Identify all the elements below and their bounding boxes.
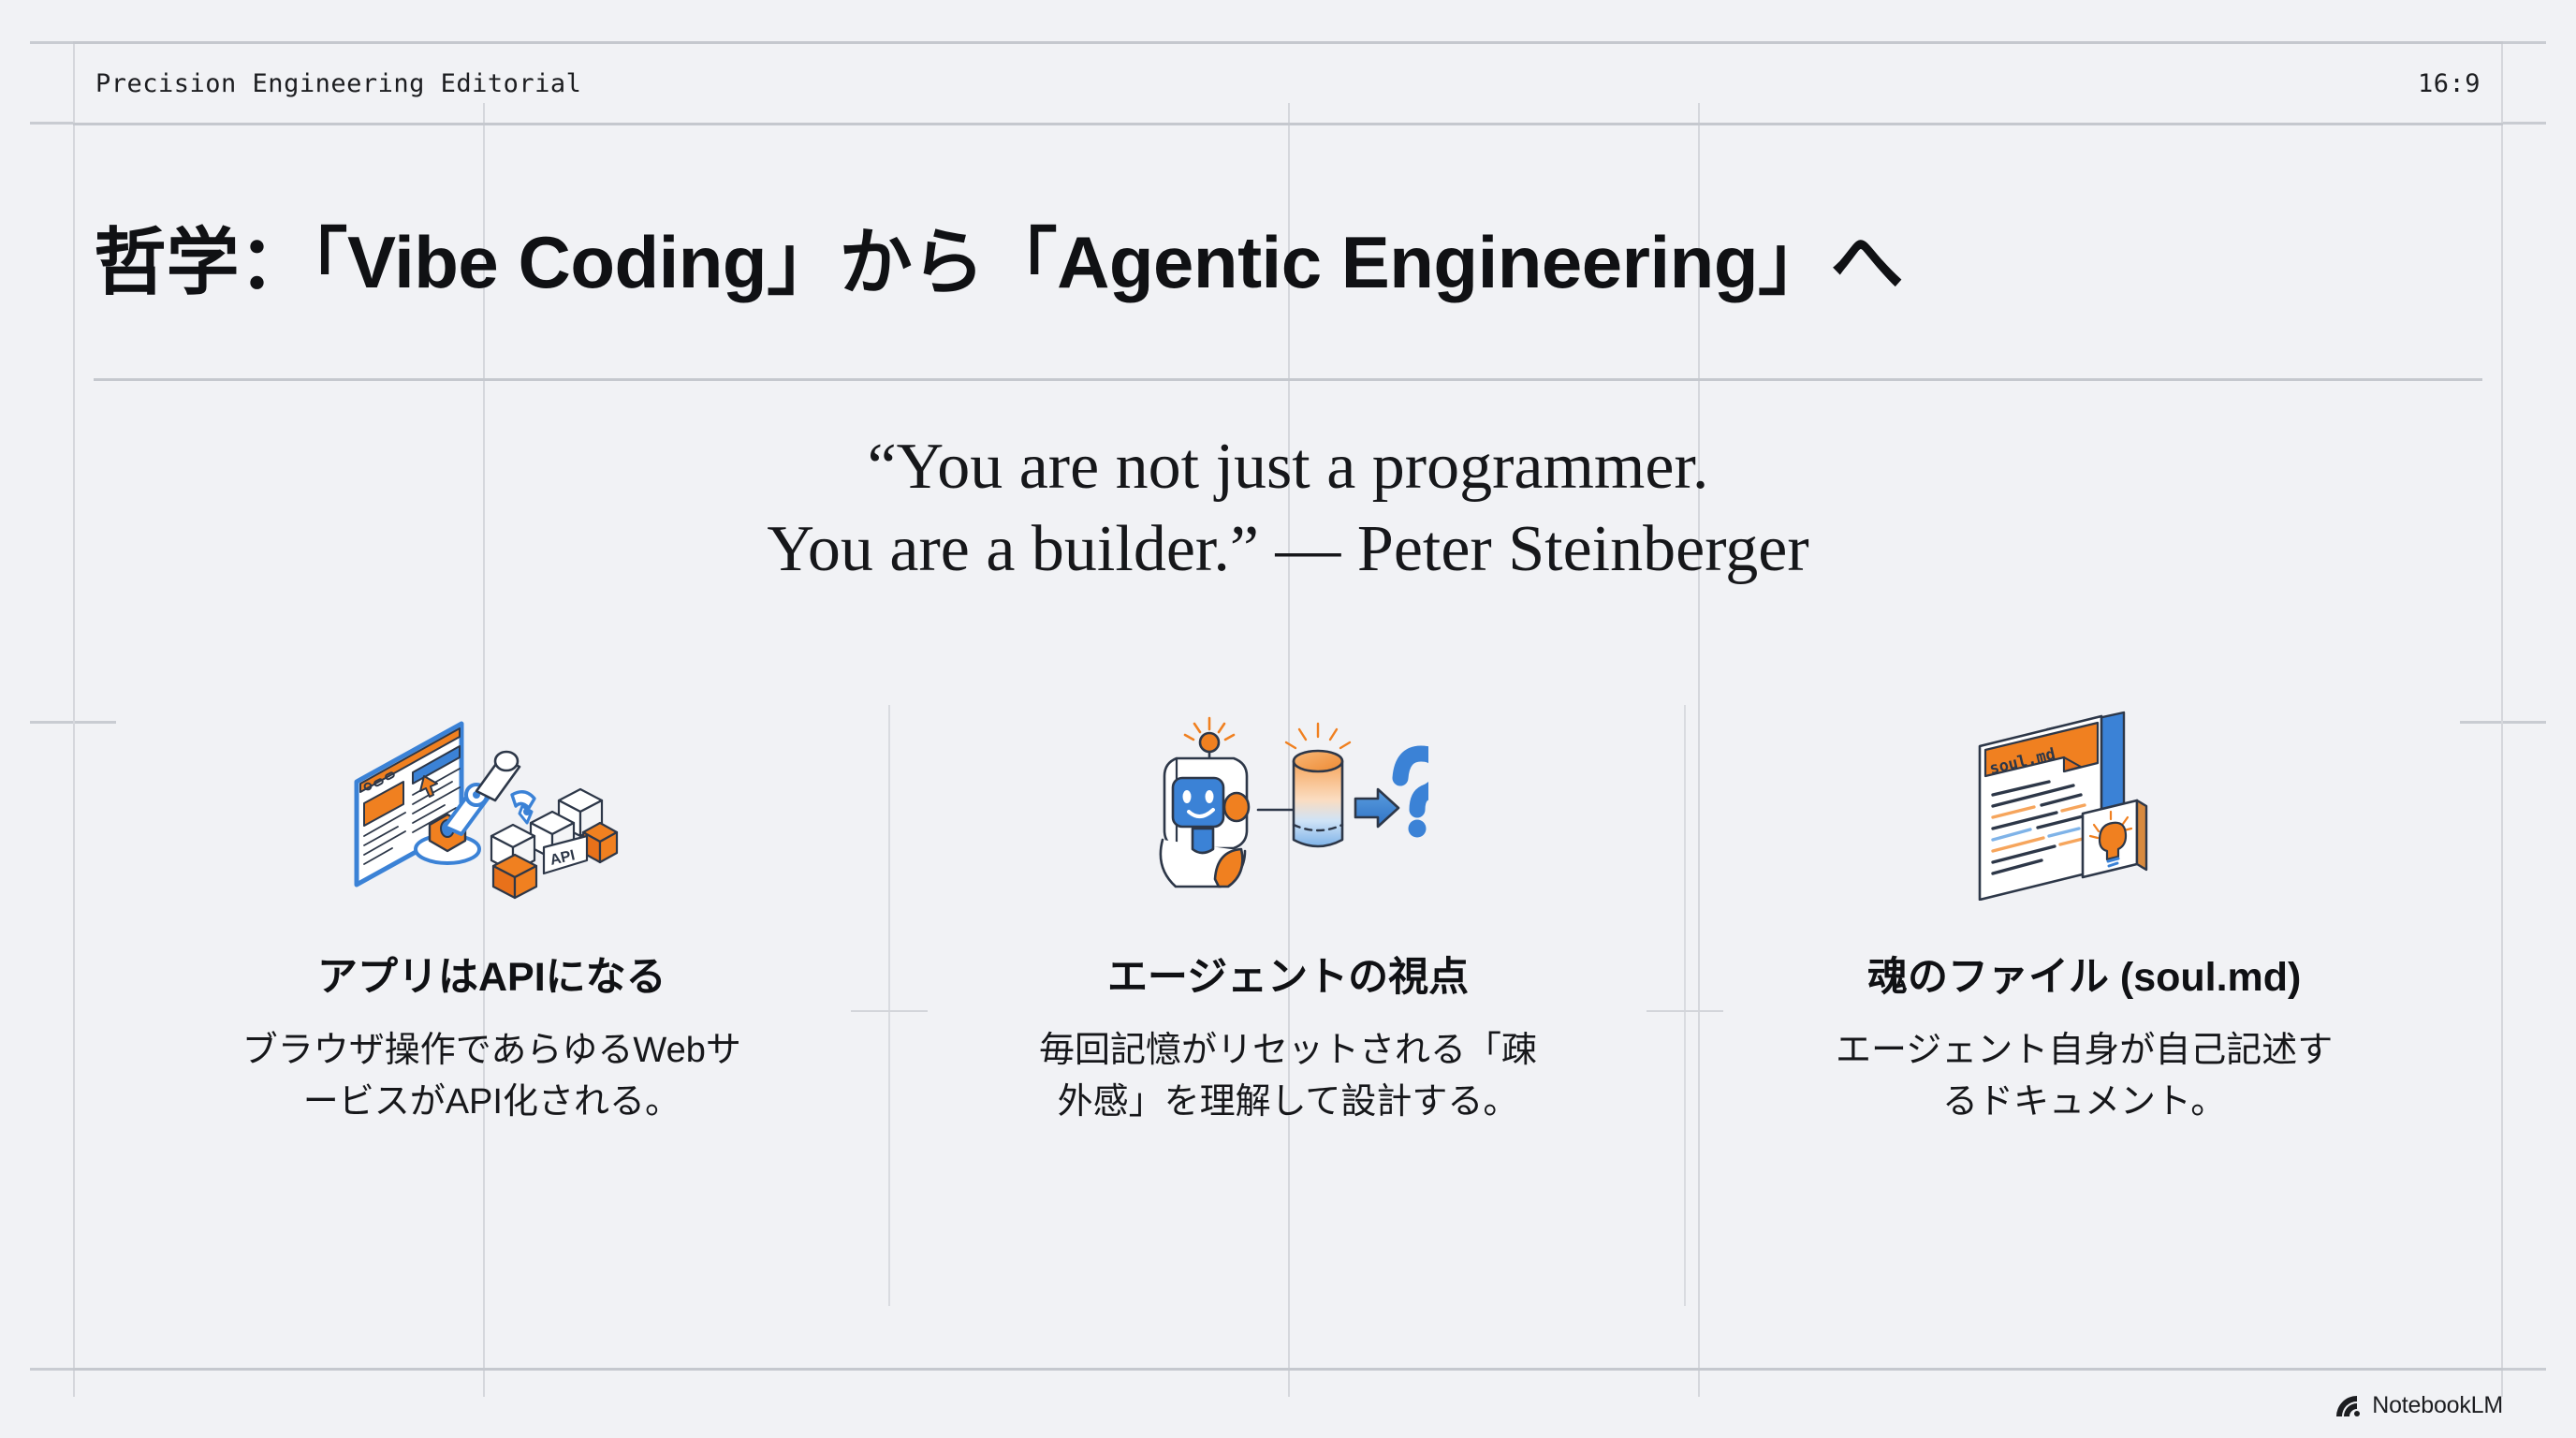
tick-right-bottom <box>2503 1368 2546 1371</box>
feature-title-2: エージェントの視点 <box>1107 954 1469 1003</box>
tick-left-upper <box>30 122 73 125</box>
rule-under-title <box>94 378 2482 381</box>
rule-header-bottom <box>73 123 2503 125</box>
page-title: 哲学：「Vibe Coding」から「Agentic Engineering」へ <box>94 222 2482 303</box>
header-left-label: Precision Engineering Editorial <box>95 69 581 98</box>
slide-root: Precision Engineering Editorial 16:9 哲学：… <box>0 0 2576 1438</box>
tick-right-upper <box>2503 122 2546 125</box>
notebooklm-brand: NotebookLM <box>2334 1392 2503 1419</box>
tick-right-top <box>2503 41 2546 44</box>
browser-robot-arm-api-illustration: API <box>351 705 632 903</box>
feature-column-1: API アプリはAPIになる ブラウザ操作であらゆるWebサービスがAPI化され… <box>94 697 890 1315</box>
rule-bottom <box>73 1368 2503 1371</box>
tick-left-bottom <box>30 1368 73 1371</box>
feature-body-1: ブラウザ操作であらゆるWebサービスがAPI化される。 <box>229 1025 754 1128</box>
soul-md-document-lightbulb-illustration: soul.md <box>1944 705 2225 903</box>
robot-memory-reset-question-illustration <box>1148 705 1428 903</box>
feature-body-3: エージェント自身が自己記述するドキュメント。 <box>1822 1025 2347 1128</box>
header-aspect-ratio-label: 16:9 <box>2418 69 2481 98</box>
feature-title-3: 魂のファイル (soul.md) <box>1867 954 2301 1003</box>
feature-column-3: soul.md 魂のファイル (soul.md) エージェント自身が自己記述する… <box>1686 697 2482 1315</box>
notebooklm-brand-label: NotebookLM <box>2372 1392 2503 1419</box>
quote-line-2: You are a builder.” — Peter Steinberger <box>168 508 2408 591</box>
tick-left-top <box>30 41 73 44</box>
quote-line-1: “You are not just a programmer. <box>168 426 2408 508</box>
pull-quote: “You are not just a programmer. You are … <box>168 426 2408 591</box>
feature-column-2: エージェントの視点 毎回記憶がリセットされる「疎外感」を理解して設計する。 <box>890 697 1687 1315</box>
feature-title-1: アプリはAPIになる <box>317 954 666 1003</box>
feature-body-2: 毎回記憶がリセットされる「疎外感」を理解して設計する。 <box>1026 1025 1550 1128</box>
notebooklm-spiral-icon <box>2334 1394 2363 1418</box>
slide-header: Precision Engineering Editorial 16:9 <box>73 44 2503 123</box>
feature-columns: API アプリはAPIになる ブラウザ操作であらゆるWebサービスがAPI化され… <box>94 697 2482 1315</box>
guide-line-left <box>73 41 75 1397</box>
guide-line-right <box>2501 41 2503 1397</box>
